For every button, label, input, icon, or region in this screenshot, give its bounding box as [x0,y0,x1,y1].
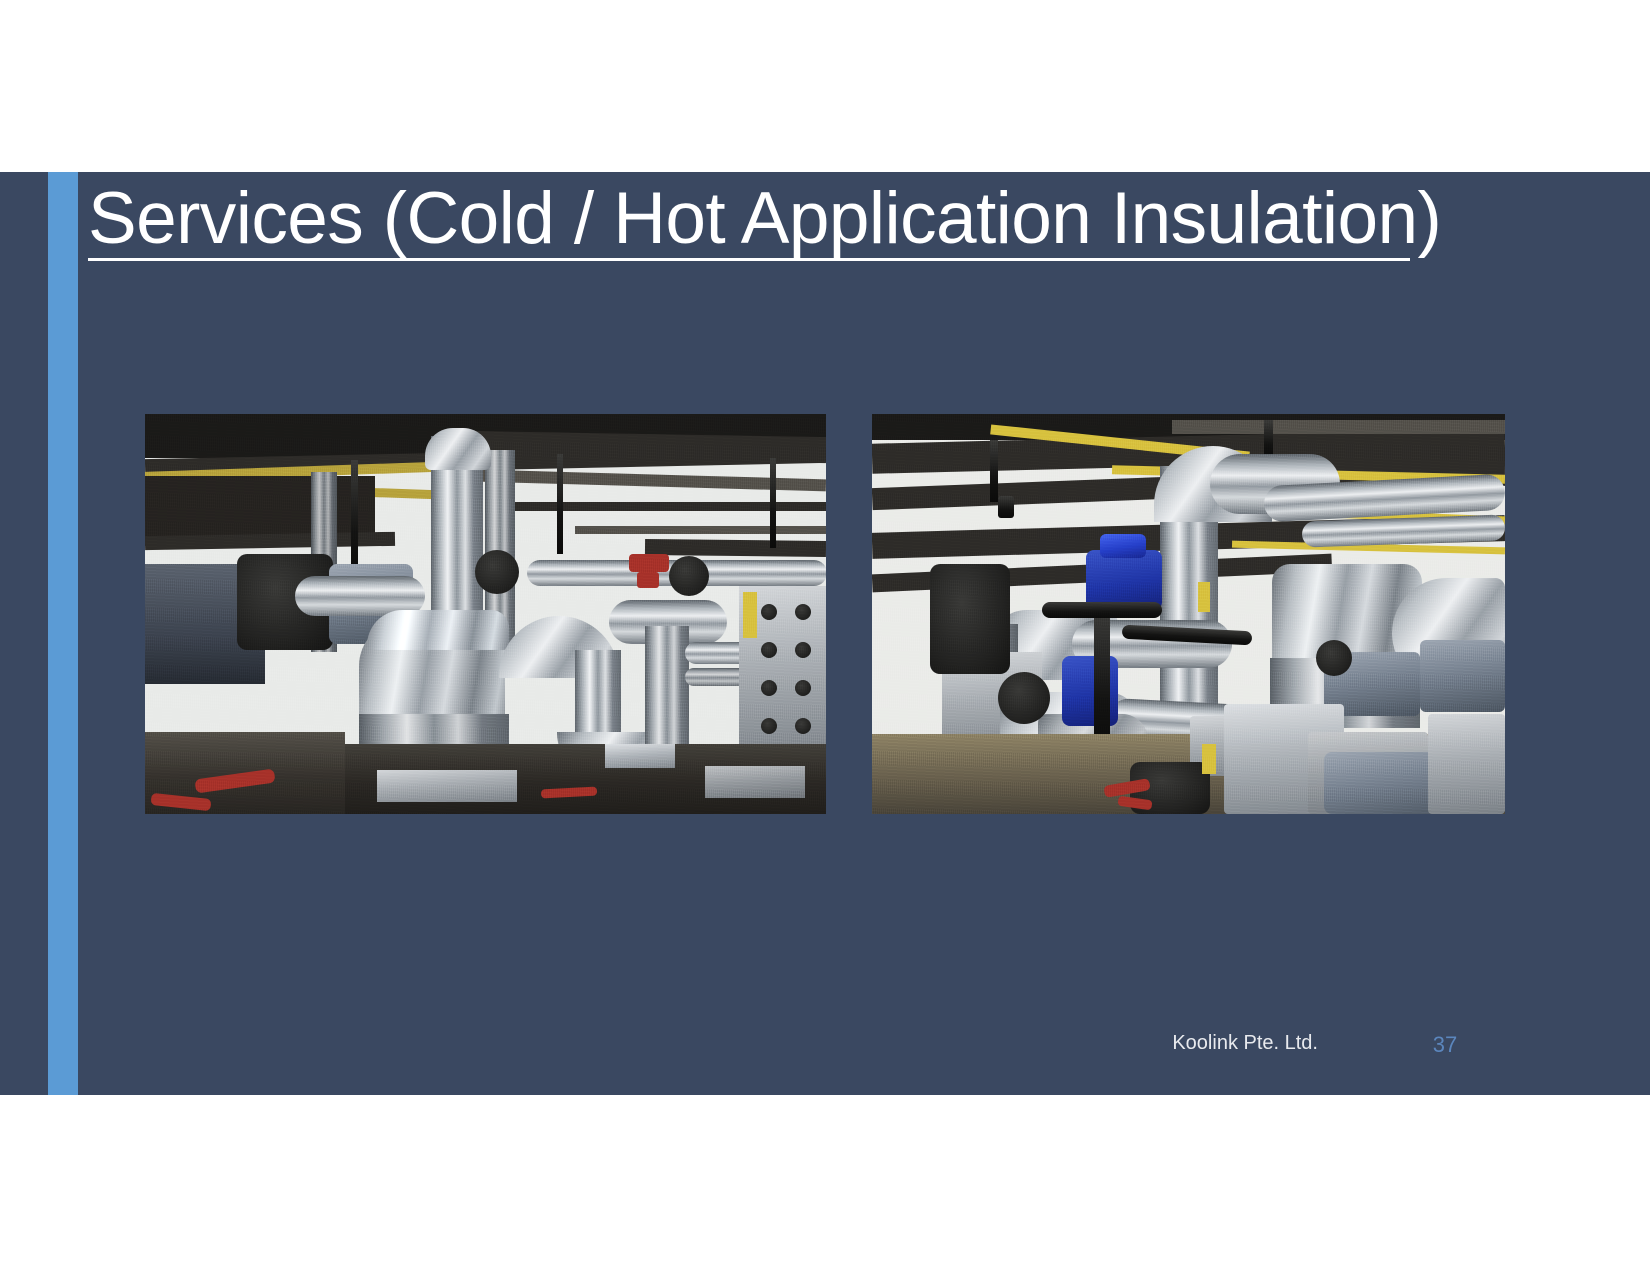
page-title-text: Services (Cold / Hot Application Insulat… [88,174,1441,264]
slide-page-number: 37 [1415,1032,1475,1058]
photo-left[interactable] [145,414,826,814]
photo-right-scene [872,414,1505,814]
left-accent-bar [48,172,78,1095]
slide-canvas: Services (Cold / Hot Application Insulat… [0,172,1650,1095]
photo-row [145,414,1505,814]
footer-company-name: Koolink Pte. Ltd. [1068,1032,1318,1055]
photo-right[interactable] [872,414,1505,814]
photo-left-scene [145,414,826,814]
title-underline [88,258,1410,261]
